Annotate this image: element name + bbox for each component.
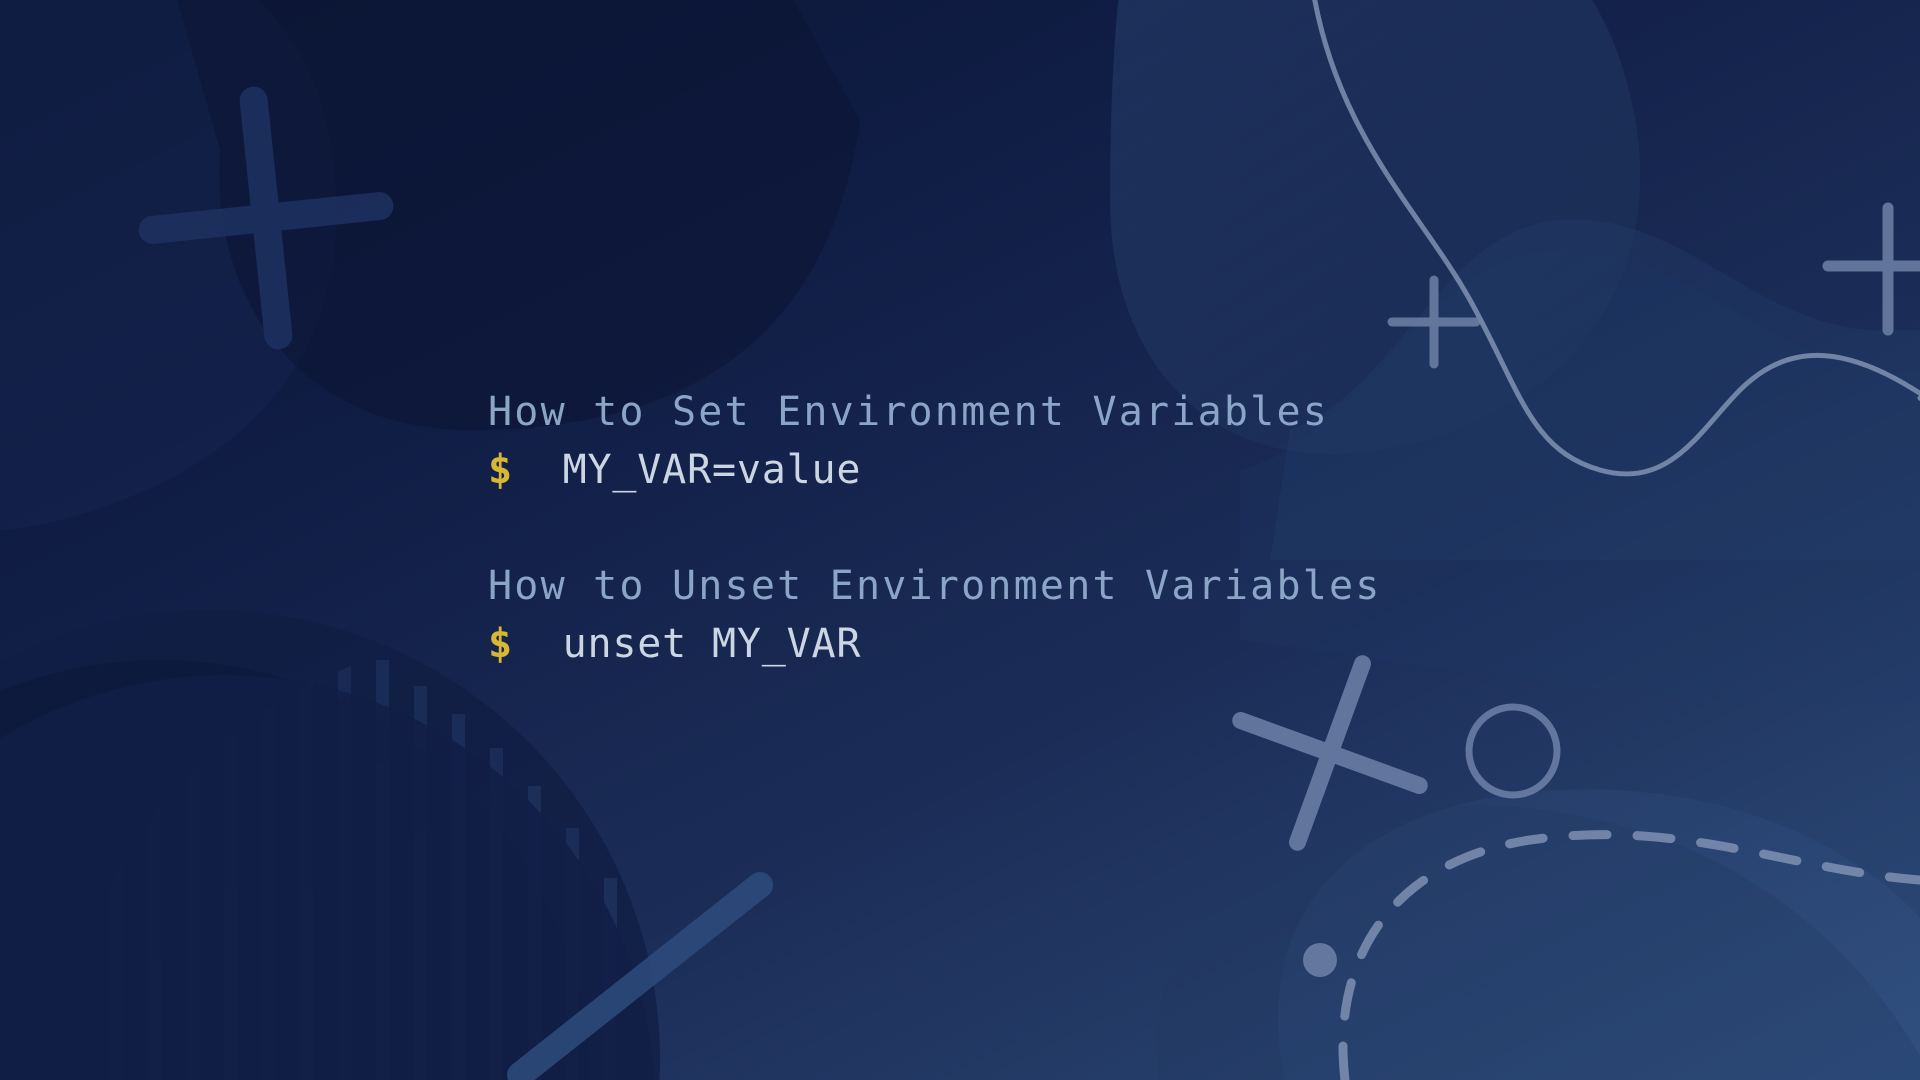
shell-prompt-icon: $ (488, 621, 563, 667)
terminal-content: How to Set Environment Variables $ MY_VA… (488, 383, 1382, 673)
shell-prompt-icon: $ (488, 447, 563, 493)
command-block-unset: How to Unset Environment Variables $ uns… (488, 557, 1382, 673)
command-line-set: $ MY_VAR=value (488, 441, 1382, 499)
command-line-unset: $ unset MY_VAR (488, 615, 1382, 673)
slide-canvas: How to Set Environment Variables $ MY_VA… (0, 0, 1920, 1080)
heading-set-env-vars: How to Set Environment Variables (488, 383, 1382, 441)
dot-icon (1303, 943, 1337, 977)
heading-unset-env-vars: How to Unset Environment Variables (488, 557, 1382, 615)
command-text-unset: unset MY_VAR (563, 621, 862, 667)
command-text-set: MY_VAR=value (563, 447, 862, 493)
command-block-set: How to Set Environment Variables $ MY_VA… (488, 383, 1382, 499)
